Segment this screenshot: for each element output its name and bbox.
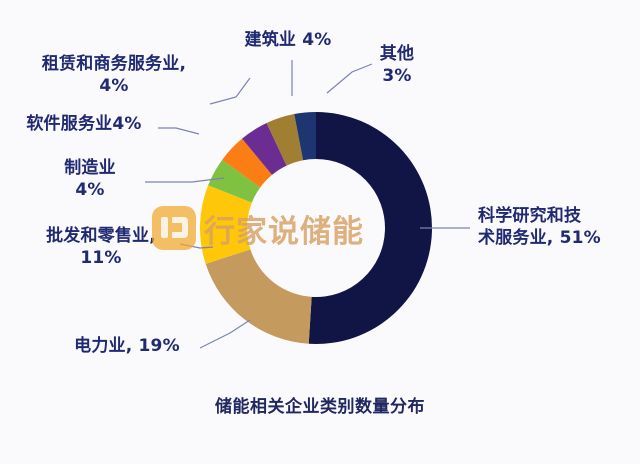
slice-label-other: 其他 3% bbox=[352, 44, 442, 88]
leader-line-power bbox=[200, 320, 250, 348]
leader-line-leasing bbox=[210, 78, 250, 104]
donut-slice[interactable] bbox=[309, 112, 432, 344]
chart-canvas: 租赁和商务服务业, 4% 建筑业 4% 其他 3% 软件服务业4% 制造业 4%… bbox=[0, 0, 640, 464]
slice-label-construction: 建筑业 4% bbox=[218, 30, 358, 52]
slice-label-leasing: 租赁和商务服务业, 4% bbox=[14, 54, 214, 98]
slice-label-power: 电力业, 19% bbox=[54, 336, 200, 358]
chart-title: 储能相关企业类别数量分布 bbox=[0, 392, 640, 417]
donut-slice[interactable] bbox=[206, 249, 312, 343]
slice-label-software: 软件服务业4% bbox=[10, 114, 158, 136]
slice-label-manufacturing: 制造业 4% bbox=[38, 158, 142, 202]
slice-label-wholesale-retail: 批发和零售业, 11% bbox=[24, 226, 178, 270]
donut-slices bbox=[200, 112, 432, 344]
leader-line-software bbox=[158, 128, 199, 134]
slice-label-science-research: 科学研究和技 术服务业, 51% bbox=[478, 206, 638, 250]
